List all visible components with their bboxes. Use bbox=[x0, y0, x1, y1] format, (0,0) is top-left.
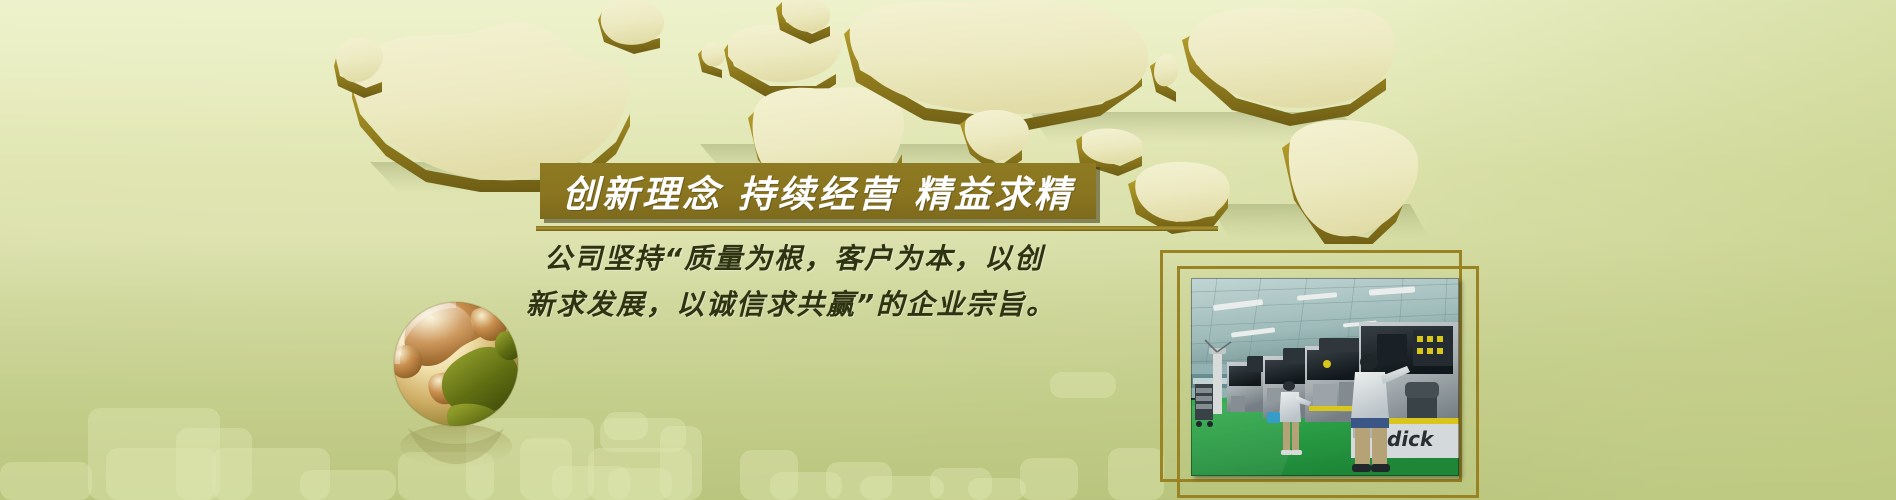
factory-workshop-photo[interactable]: dick bbox=[1191, 278, 1459, 476]
subtitle-line-2: 新求发展，以诚信求共赢”的企业宗旨。 bbox=[526, 282, 1184, 328]
watermark-block bbox=[0, 462, 92, 500]
watermark-block bbox=[608, 468, 672, 500]
watermark-block bbox=[968, 478, 1026, 500]
watermark-block bbox=[826, 462, 892, 500]
subtitle-block: 公司坚持“质量为根，客户为本，以创 新求发展，以诚信求共赢”的企业宗旨。 bbox=[544, 236, 1184, 328]
watermark-block bbox=[88, 408, 220, 500]
headline-band: 创新理念 持续经营 精益求精 bbox=[540, 163, 1096, 219]
watermark-block bbox=[1108, 448, 1164, 500]
headline-underline-rule bbox=[536, 226, 1218, 231]
watermark-block bbox=[860, 476, 944, 500]
globe-3d-graphic bbox=[378, 288, 538, 488]
watermark-block bbox=[600, 418, 686, 452]
watermark-block bbox=[1050, 372, 1116, 398]
watermark-block bbox=[740, 450, 798, 500]
watermark-block bbox=[1020, 458, 1078, 500]
watermark-block bbox=[660, 426, 702, 500]
headline-text: 创新理念 持续经营 精益求精 bbox=[562, 164, 1074, 218]
watermark-block bbox=[770, 472, 842, 500]
watermark-block bbox=[176, 428, 252, 500]
subtitle-line-1: 公司坚持“质量为根，客户为本，以创 bbox=[544, 236, 1184, 282]
watermark-block bbox=[604, 412, 648, 440]
watermark-block bbox=[106, 448, 216, 500]
watermark-block bbox=[588, 448, 692, 500]
watermark-block bbox=[212, 448, 330, 500]
watermark-block bbox=[552, 466, 630, 500]
company-culture-banner: 创新理念 持续经营 精益求精 公司坚持“质量为根，客户为本，以创 新求发展，以诚… bbox=[0, 0, 1896, 500]
watermark-block bbox=[930, 468, 992, 500]
